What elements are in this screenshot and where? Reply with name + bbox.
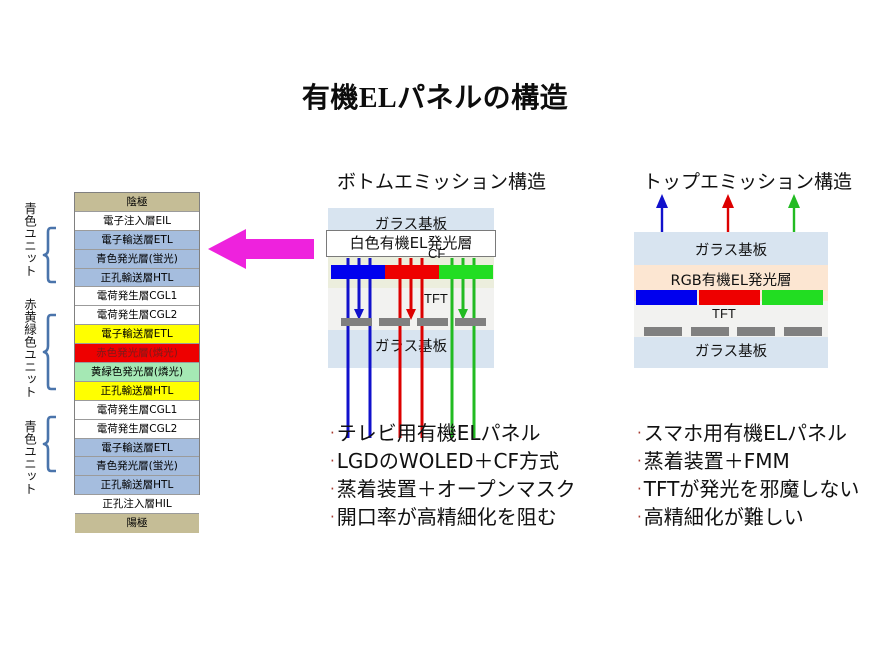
be-tft-block: [341, 318, 372, 326]
te-tft-block: [691, 327, 729, 336]
stack-layer: 電子輸送層ETL: [75, 231, 199, 250]
stack-layer: 黄緑色発光層(燐光): [75, 363, 199, 382]
be-tft-block: [417, 318, 448, 326]
top-emission-diagram: ガラス基板 RGB有機EL発光層 ガラス基板 TFT: [634, 232, 828, 368]
bullet-text: TFTが発光を邪魔しない: [644, 476, 860, 502]
bullet-marker-icon: ·: [637, 504, 642, 530]
stack-layer: 陽極: [75, 514, 199, 533]
bullet-marker-icon: ·: [330, 476, 335, 502]
be-tft-label: TFT: [424, 291, 448, 306]
stack-layer: 正孔輸送層HTL: [75, 269, 199, 288]
top-emission-bullet-list: ·スマホ用有機ELパネル·蒸着装置＋FMM·TFTが発光を邪魔しない·高精細化が…: [637, 420, 859, 532]
bullet-item: ·蒸着装置＋オープンマスク: [330, 476, 576, 502]
te-tft-block: [784, 327, 822, 336]
brace-blue-top-icon: [42, 226, 58, 284]
bullet-text: 開口率が高精細化を阻む: [337, 504, 557, 530]
bullet-marker-icon: ·: [637, 476, 642, 502]
bullet-text: 高精細化が難しい: [644, 504, 804, 530]
be-color-bar-blue: [331, 265, 385, 279]
slide-canvas: 有機ELパネルの構造 青色ユニット 赤黄緑色ユニット 青色ユニット 陰極電子注入…: [0, 0, 870, 652]
unit-label-blue-bottom: 青色ユニット: [14, 414, 36, 500]
bottom-emission-diagram: ガラス基板 ガラス基板 白色有機EL発光層: [328, 208, 494, 368]
page-title: 有機ELパネルの構造: [0, 76, 870, 116]
be-color-bar-red: [385, 265, 439, 279]
oled-layer-stack: 陰極電子注入層EIL電子輸送層ETL青色発光層(蛍光)正孔輸送層HTL電荷発生層…: [74, 192, 200, 495]
te-tft-block: [737, 327, 775, 336]
stack-layer: 正孔注入層HIL: [75, 495, 199, 514]
bottom-emission-bullet-list: ·テレビ用有機ELパネル·LGDのWOLED＋CF方式·蒸着装置＋オープンマスク…: [330, 420, 576, 532]
stack-layer: 電荷発生層CGL2: [75, 420, 199, 439]
stack-layer: 青色発光層(蛍光): [75, 250, 199, 269]
bullet-text: 蒸着装置＋FMM: [644, 448, 790, 474]
bullet-text: LGDのWOLED＋CF方式: [337, 448, 559, 474]
bullet-marker-icon: ·: [637, 448, 642, 474]
bullet-item: ·蒸着装置＋FMM: [637, 448, 859, 474]
bullet-item: ·テレビ用有機ELパネル: [330, 420, 576, 446]
bullet-marker-icon: ·: [330, 420, 335, 446]
bullet-text: テレビ用有機ELパネル: [337, 420, 541, 446]
te-emitter-bar-blue: [636, 290, 697, 305]
stack-layer: 電子注入層EIL: [75, 212, 199, 231]
bullet-item: ·TFTが発光を邪魔しない: [637, 476, 859, 502]
stack-layer: 陰極: [75, 193, 199, 212]
bullet-marker-icon: ·: [330, 504, 335, 530]
bullet-item: ·LGDのWOLED＋CF方式: [330, 448, 576, 474]
bullet-marker-icon: ·: [330, 448, 335, 474]
brace-ryg-icon: [42, 313, 58, 391]
bullet-item: ·高精細化が難しい: [637, 504, 859, 530]
bullet-text: 蒸着装置＋オープンマスク: [337, 476, 576, 502]
te-emissive-layer-label: RGB有機EL発光層: [634, 269, 828, 290]
bullet-item: ·開口率が高精細化を阻む: [330, 504, 576, 530]
be-tft-block: [455, 318, 486, 326]
stack-layer: 正孔輸送層HTL: [75, 476, 199, 495]
stack-layer: 電子輸送層ETL: [75, 439, 199, 458]
stack-layer: 正孔輸送層HTL: [75, 382, 199, 401]
stack-layer: 電荷発生層CGL1: [75, 287, 199, 306]
te-emitter-bar-green: [762, 290, 823, 305]
be-light-rays: [328, 208, 494, 368]
bullet-item: ·スマホ用有機ELパネル: [637, 420, 859, 446]
heading-bottom-emission: ボトムエミッション構造: [337, 167, 546, 194]
be-cf-label: CF: [428, 246, 445, 261]
stack-layer: 青色発光層(蛍光): [75, 457, 199, 476]
te-tft-block: [644, 327, 682, 336]
stack-layer: 電荷発生層CGL1: [75, 401, 199, 420]
te-glass-bottom-label: ガラス基板: [634, 340, 828, 361]
stack-layer: 電荷発生層CGL2: [75, 306, 199, 325]
be-tft-block: [379, 318, 410, 326]
stack-layer: 電子輸送層ETL: [75, 325, 199, 344]
magenta-left-arrow-icon: [206, 228, 316, 275]
unit-label-blue-top: 青色ユニット: [14, 196, 36, 282]
te-glass-top-label: ガラス基板: [634, 239, 828, 260]
bullet-marker-icon: ·: [637, 420, 642, 446]
te-tft-label: TFT: [712, 306, 736, 321]
be-color-bar-green: [439, 265, 493, 279]
unit-label-red-yellow-green: 赤黄緑色ユニット: [14, 292, 36, 404]
brace-blue-bottom-icon: [42, 415, 58, 473]
bullet-text: スマホ用有機ELパネル: [644, 420, 847, 446]
stack-layer: 赤色発光層(燐光): [75, 344, 199, 363]
te-emitter-bar-red: [699, 290, 760, 305]
